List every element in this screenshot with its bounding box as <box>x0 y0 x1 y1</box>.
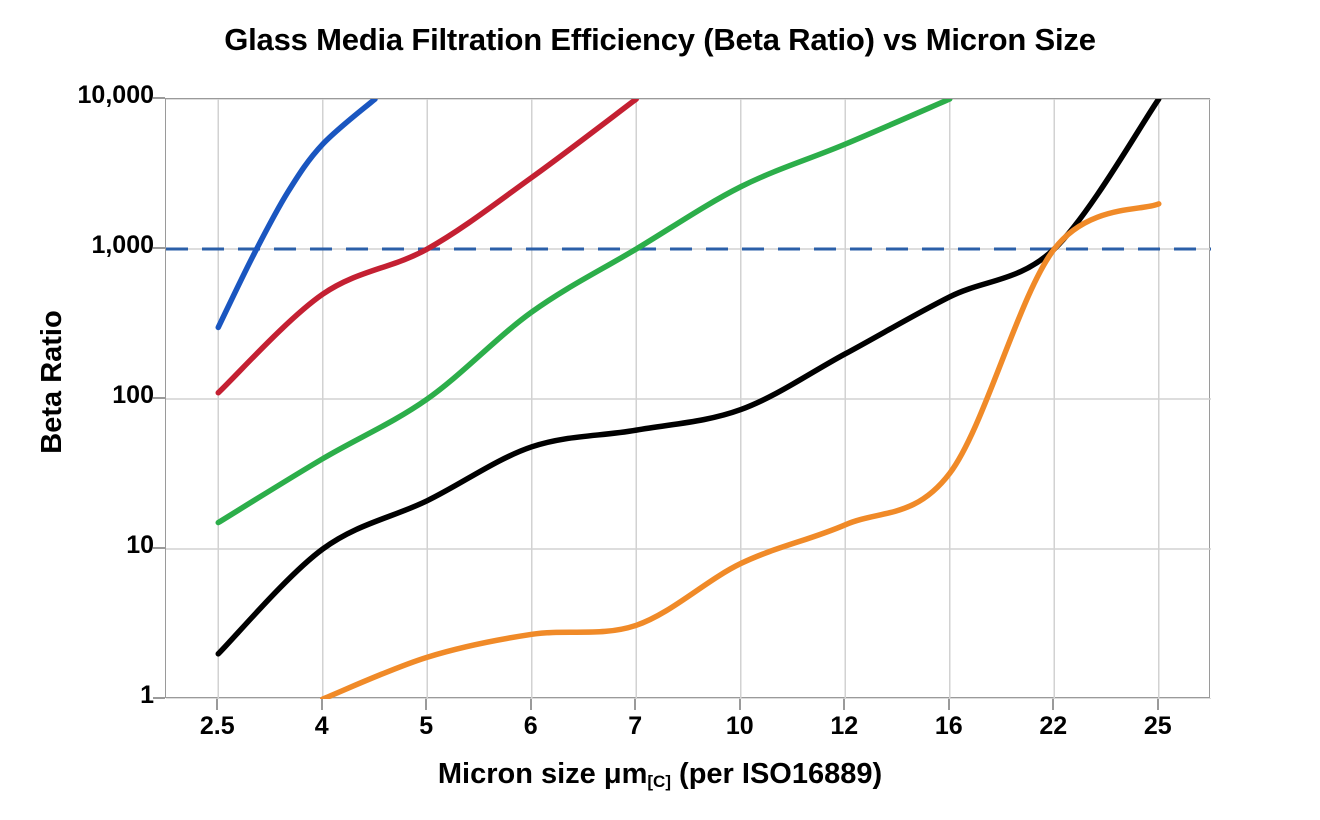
series-line-17e <box>218 99 1159 654</box>
y-axis-title: Beta Ratio <box>36 232 69 532</box>
x-tick-mark <box>843 698 845 710</box>
y-tick-label: 10 <box>34 533 154 558</box>
x-tick-mark <box>1157 698 1159 710</box>
x-tick-label: 5 <box>386 712 466 741</box>
x-tick-mark <box>425 698 427 710</box>
x-tick-label: 4 <box>282 712 362 741</box>
x-tick-mark <box>216 698 218 710</box>
y-tick-label: 100 <box>34 383 154 408</box>
x-tick-label: 16 <box>909 712 989 741</box>
x-tick-mark <box>739 698 741 710</box>
plot-area <box>165 98 1210 698</box>
x-tick-label: 10 <box>700 712 780 741</box>
x-tick-label: 22 <box>1013 712 1093 741</box>
x-axis-title-main: Micron size μm <box>438 758 648 790</box>
y-tick-mark <box>153 247 165 249</box>
x-tick-mark <box>948 698 950 710</box>
y-tick-label: 1,000 <box>34 233 154 258</box>
x-tick-label: 25 <box>1118 712 1198 741</box>
y-tick-label: 1 <box>34 683 154 708</box>
x-tick-mark <box>1052 698 1054 710</box>
y-tick-label: 10,000 <box>34 83 154 108</box>
x-axis-title-tail: (per ISO16889) <box>671 758 882 790</box>
x-tick-label: 2.5 <box>177 712 257 741</box>
series-line-10-12-15e <box>218 99 950 523</box>
chart-root: Glass Media Filtration Efficiency (Beta … <box>0 0 1320 820</box>
x-tick-label: 12 <box>804 712 884 741</box>
y-tick-mark <box>153 397 165 399</box>
y-tick-mark <box>153 547 165 549</box>
chart-title: Glass Media Filtration Efficiency (Beta … <box>0 22 1320 58</box>
series-line-2-3e <box>218 99 375 327</box>
x-axis-title-subscript: [C] <box>647 772 671 791</box>
x-tick-mark <box>530 698 532 710</box>
y-tick-mark <box>153 697 165 699</box>
x-tick-label: 6 <box>491 712 571 741</box>
y-tick-mark <box>153 97 165 99</box>
x-tick-mark <box>634 698 636 710</box>
x-tick-mark <box>321 698 323 710</box>
x-tick-label: 7 <box>595 712 675 741</box>
x-axis-title: Micron size μm[C] (per ISO16889) <box>0 758 1320 792</box>
plot-canvas <box>166 99 1211 699</box>
